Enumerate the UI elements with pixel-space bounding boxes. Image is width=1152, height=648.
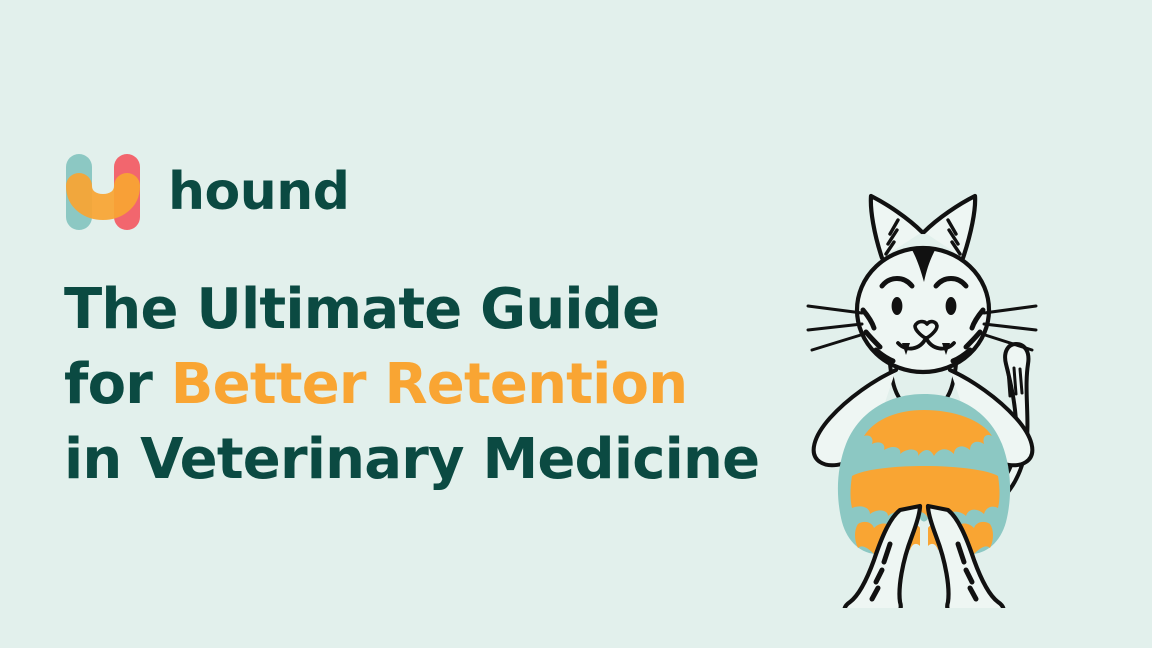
slide-root: hound The Ultimate Guide for Better Rete… — [0, 0, 1152, 648]
tutu-skirt — [838, 394, 1010, 554]
page-title: The Ultimate Guide for Better Retention … — [64, 272, 759, 497]
headline-accent-text: Better Retention — [171, 352, 688, 417]
headline-line-1: The Ultimate Guide — [64, 272, 759, 347]
cat-in-tutu-illustration — [778, 158, 1068, 608]
brand-wordmark: hound — [168, 166, 350, 218]
headline-line-3: in Veterinary Medicine — [64, 422, 759, 497]
brand-logo-lockup[interactable]: hound — [64, 152, 350, 232]
headline-line-2: for Better Retention — [64, 347, 759, 422]
headline-line-2-prefix: for — [64, 352, 171, 417]
hound-h-monogram-icon — [64, 152, 146, 232]
